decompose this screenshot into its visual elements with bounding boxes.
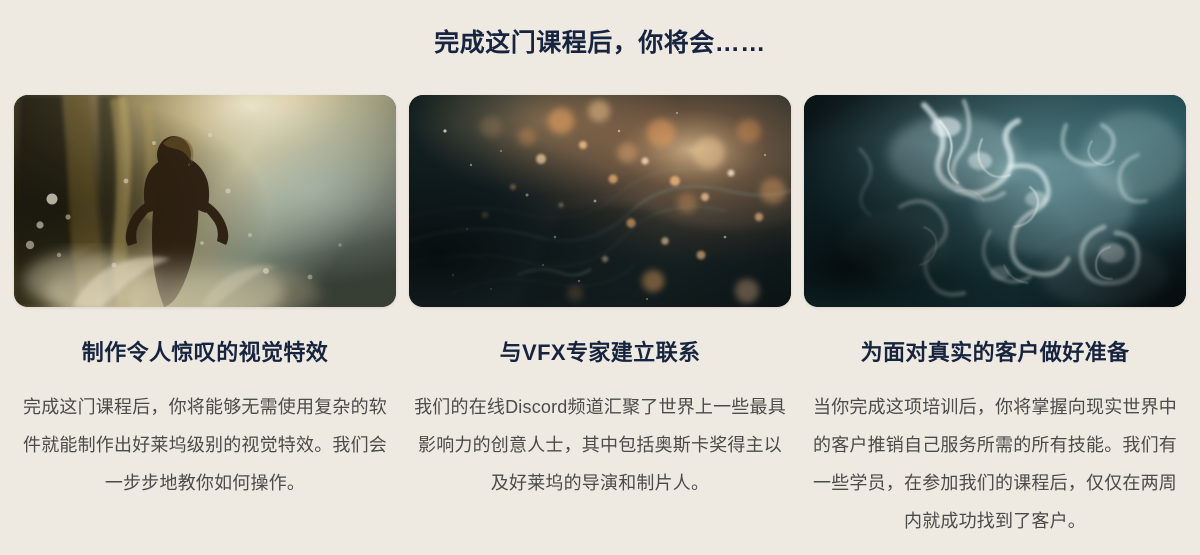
benefit-card: 为面对真实的客户做好准备 当你完成这项培训后，你将掌握向现实世界中的客户推销自己… (804, 95, 1186, 540)
section-heading: 完成这门课程后，你将会…… (0, 28, 1200, 59)
benefit-cards-row: 制作令人惊叹的视觉特效 完成这门课程后，你将能够无需使用复杂的软件就能制作出好莱… (14, 95, 1186, 540)
orange-embers-sparks-over-dark-teal-waves-image (409, 95, 791, 307)
card-title: 与VFX专家建立联系 (500, 339, 701, 368)
card-title: 为面对真实的客户做好准备 (861, 339, 1130, 368)
card-thumbnail-smoke (804, 95, 1186, 307)
card-body-text: 我们的在线Discord频道汇聚了世界上一些最具影响力的创意人士，其中包括奥斯卡… (412, 388, 788, 502)
card-body-text: 当你完成这项培训后，你将掌握向现实世界中的客户推销自己服务所需的所有技能。我们有… (807, 388, 1183, 540)
card-body-text: 完成这门课程后，你将能够无需使用复杂的软件就能制作出好莱坞级别的视觉特效。我们会… (17, 388, 393, 502)
card-thumbnail-embers (409, 95, 791, 307)
card-title: 制作令人惊叹的视觉特效 (82, 339, 328, 368)
benefit-card: 制作令人惊叹的视觉特效 完成这门课程后，你将能够无需使用复杂的软件就能制作出好莱… (14, 95, 396, 502)
benefit-card: 与VFX专家建立联系 我们的在线Discord频道汇聚了世界上一些最具影响力的创… (409, 95, 791, 502)
card-thumbnail-hero-water (14, 95, 396, 307)
promo-benefits-section: 完成这门课程后，你将会…… (0, 0, 1200, 555)
white-smoke-wisps-on-dark-teal-background-image (804, 95, 1186, 307)
hero-running-through-water-splash-golden-light-image (14, 95, 396, 307)
